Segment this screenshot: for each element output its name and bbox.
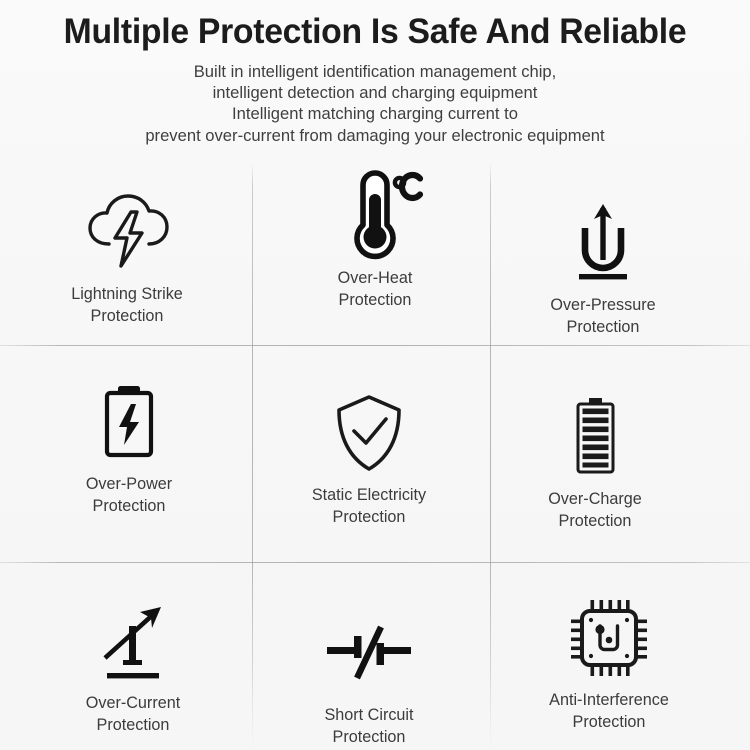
u-arrow-up-icon <box>478 197 728 289</box>
feature-label-line1: Over-Pressure <box>478 295 728 317</box>
grid-divider-horizontal-top <box>0 345 750 346</box>
feature-label-line1: Anti-Interference <box>484 690 734 712</box>
feature-grid: Lightning Strike Protection <box>0 164 750 750</box>
feature-cell-over-current: Over-Current Protection <box>8 595 258 736</box>
battery-lightning-icon <box>4 376 254 468</box>
feature-label-line2: Protection <box>2 306 252 328</box>
feature-label: Over-Power Protection <box>4 468 254 517</box>
feature-label-line2: Protection <box>4 496 254 518</box>
feature-label: Over-Heat Protection <box>250 262 500 311</box>
microchip-icon <box>484 592 734 684</box>
page-title: Multiple Protection Is Safe And Reliable <box>19 0 732 54</box>
feature-label-line1: Static Electricity <box>244 485 494 507</box>
feature-label-line1: Over-Power <box>4 474 254 496</box>
feature-label-line2: Protection <box>484 712 734 734</box>
header: Multiple Protection Is Safe And Reliable… <box>0 0 750 146</box>
feature-cell-short-circuit: Short Circuit Protection <box>244 607 494 748</box>
subtitle-line-4: prevent over-current from damaging your … <box>0 125 750 146</box>
current-arrow-up-icon <box>8 595 258 687</box>
subtitle-line-3: Intelligent matching charging current to <box>0 103 750 124</box>
feature-label-line2: Protection <box>244 507 494 529</box>
feature-label: Short Circuit Protection <box>244 699 494 748</box>
shield-check-icon <box>244 387 494 479</box>
subtitle-line-1: Built in intelligent identification mana… <box>0 61 750 82</box>
feature-label: Anti-Interference Protection <box>484 684 734 733</box>
feature-label-line2: Protection <box>250 290 500 312</box>
thermometer-celsius-icon <box>250 170 500 262</box>
feature-label-line2: Protection <box>478 317 728 339</box>
feature-label-line1: Short Circuit <box>244 705 494 727</box>
feature-label-line1: Over-Heat <box>250 268 500 290</box>
grid-divider-horizontal-bottom <box>0 562 750 563</box>
feature-label: Lightning Strike Protection <box>2 278 252 327</box>
feature-label: Static Electricity Protection <box>244 479 494 528</box>
subtitle-line-2: intelligent detection and charging equip… <box>0 82 750 103</box>
battery-full-icon <box>470 391 720 483</box>
feature-label-line1: Lightning Strike <box>2 284 252 306</box>
cloud-lightning-icon <box>2 186 252 278</box>
feature-label-line1: Over-Charge <box>470 489 720 511</box>
feature-cell-over-power: Over-Power Protection <box>4 376 254 517</box>
short-circuit-slash-icon <box>244 607 494 699</box>
feature-label: Over-Pressure Protection <box>478 289 728 338</box>
feature-label: Over-Charge Protection <box>470 483 720 532</box>
feature-cell-over-heat: Over-Heat Protection <box>250 170 500 311</box>
feature-label-line2: Protection <box>8 715 258 737</box>
feature-label-line2: Protection <box>470 511 720 533</box>
feature-label-line1: Over-Current <box>8 693 258 715</box>
feature-cell-static-electricity: Static Electricity Protection <box>244 387 494 528</box>
feature-cell-lightning-strike: Lightning Strike Protection <box>2 186 252 327</box>
feature-label: Over-Current Protection <box>8 687 258 736</box>
protection-features-page: Multiple Protection Is Safe And Reliable… <box>0 0 750 750</box>
feature-cell-over-charge: Over-Charge Protection <box>470 391 720 532</box>
feature-label-line2: Protection <box>244 727 494 749</box>
feature-cell-over-pressure: Over-Pressure Protection <box>478 197 728 338</box>
feature-cell-anti-interference: Anti-Interference Protection <box>484 592 734 733</box>
page-subtitle: Built in intelligent identification mana… <box>0 54 750 146</box>
